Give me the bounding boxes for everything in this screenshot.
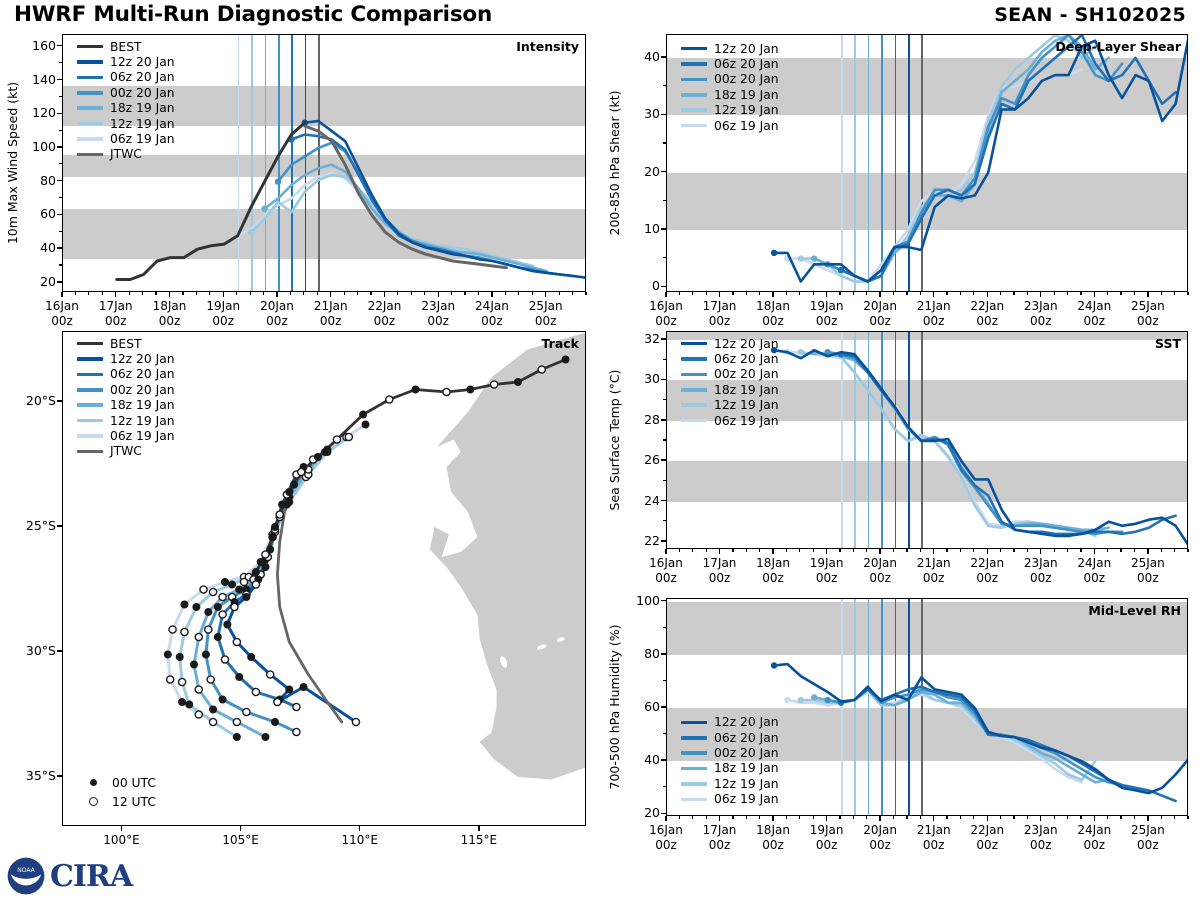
series-init-marker [798, 697, 804, 703]
x-minor-tick [129, 292, 130, 295]
x-minor-tick [102, 292, 103, 295]
track-point-12utc [233, 638, 240, 645]
track-point-00utc [247, 653, 255, 661]
legend-row: 12z 19 Jan [77, 116, 175, 131]
track-point-12utc [233, 718, 240, 725]
legend-label: 06z 20 Jan [714, 732, 779, 744]
plot-area-intensity: IntensityBEST12z 20 Jan06z 20 Jan00z 20 … [62, 34, 586, 292]
track-point-00utc [242, 593, 250, 601]
legend-row: 12z 19 Jan [681, 103, 779, 118]
y-minor-tick [663, 142, 666, 143]
x-minor-tick [155, 292, 156, 295]
legend-row: 18z 19 Jan [77, 101, 175, 116]
x-minor-tick [88, 292, 89, 295]
track-point-00utc [314, 453, 322, 461]
series-line [251, 175, 533, 266]
series-line [265, 165, 547, 271]
y-tick-label: 0 [626, 278, 660, 293]
legend-swatch [681, 47, 707, 51]
legend-label: 00 UTC [112, 776, 156, 790]
track-point-12utc [276, 511, 283, 518]
legend-label: 06z 20 Jan [714, 353, 779, 365]
lat-tick-mark [57, 775, 62, 776]
legend-row: 12z 19 Jan [681, 776, 779, 791]
legend-label: 06z 20 Jan [110, 71, 175, 83]
x-minor-tick [1187, 816, 1188, 819]
y-tick-mark [661, 419, 666, 420]
y-axis-label-shear: 200-850 hPa Shear (kt) [607, 91, 622, 236]
x-minor-tick [1174, 292, 1175, 295]
legend-swatch [681, 373, 707, 377]
y-tick-label: 10 [626, 221, 660, 236]
x-tick-label-hour: 00z [1114, 838, 1182, 853]
x-minor-tick [893, 292, 894, 295]
track-point-12utc [298, 468, 305, 475]
x-minor-tick [1013, 816, 1014, 819]
track-point-00utc [285, 686, 293, 694]
track-point-00utc [261, 733, 269, 741]
lat-tick-label: 25°S [14, 518, 56, 533]
legend-utc-markers: 00 UTC12 UTC [83, 773, 156, 811]
x-minor-tick [290, 292, 291, 295]
y-minor-tick [663, 786, 666, 787]
y-tick-label: 28 [626, 412, 660, 427]
series-line [788, 692, 1082, 782]
track-point-12utc [209, 718, 216, 725]
legend-swatch [77, 419, 103, 423]
legend-row: JTWC [77, 147, 175, 162]
y-tick-mark [661, 114, 666, 115]
y-tick-mark [661, 813, 666, 814]
series-init-marker [798, 349, 804, 355]
legend-swatch [77, 60, 103, 64]
track-point-12utc [243, 708, 250, 715]
legend-swatch [681, 108, 707, 112]
filled-circle-icon [83, 779, 103, 786]
x-minor-tick [799, 549, 800, 552]
x-tick-mark [223, 292, 224, 297]
legend-row: 00z 20 Jan [681, 367, 779, 382]
legend-label: 18z 19 Jan [714, 89, 779, 101]
x-minor-tick [920, 549, 921, 552]
y-minor-tick [663, 627, 666, 628]
series-line [841, 35, 1176, 282]
legend-swatch [77, 403, 103, 407]
series-init-marker [798, 255, 804, 261]
y-tick-mark [661, 759, 666, 760]
track-point-12utc [293, 728, 300, 735]
track-point-12utc [209, 588, 216, 595]
panel-shear: Deep-Layer Shear12z 20 Jan06z 20 Jan00z … [600, 28, 1200, 318]
panel-title-rh: Mid-Level RH [1088, 603, 1181, 618]
legend-swatch [77, 153, 103, 157]
series-line [305, 121, 586, 278]
y-tick-label: 30 [626, 106, 660, 121]
legend-swatch [681, 403, 707, 407]
y-minor-tick [59, 163, 62, 164]
y-minor-tick [59, 130, 62, 131]
x-minor-tick [1120, 549, 1121, 552]
x-minor-tick [478, 292, 479, 295]
track-point-12utc [221, 656, 228, 663]
y-tick-mark [57, 113, 62, 114]
legend-swatch [681, 388, 707, 392]
legend-label: 06z 20 Jan [110, 368, 175, 380]
x-minor-tick [732, 292, 733, 295]
y-tick-label: 20 [22, 274, 56, 289]
track-point-12utc [491, 381, 498, 388]
panel-intensity: IntensityBEST12z 20 Jan06z 20 Jan00z 20 … [0, 28, 600, 318]
legend-row: 18z 19 Jan [681, 761, 779, 776]
series-line [814, 35, 1108, 282]
x-tick-mark [987, 292, 988, 297]
x-tick-group: 25Jan00z [1114, 823, 1182, 852]
legend-swatch [681, 782, 707, 786]
y-tick-mark [661, 171, 666, 172]
x-minor-tick [920, 292, 921, 295]
x-tick-mark [665, 816, 666, 821]
panel-track: TrackBEST12z 20 Jan06z 20 Jan00z 20 Jan1… [0, 325, 600, 865]
legend-swatch [77, 91, 103, 95]
legend-label: 12z 19 Jan [714, 399, 779, 411]
legend-swatch [77, 450, 103, 454]
legend-row: BEST [77, 336, 175, 351]
x-minor-tick [973, 292, 974, 295]
x-minor-tick [1080, 292, 1081, 295]
legend-row: 06z 19 Jan [77, 131, 175, 146]
y-tick-mark [57, 281, 62, 282]
legend-label: 18z 19 Jan [110, 102, 175, 114]
track-point-00utc [228, 581, 236, 589]
x-minor-tick [209, 292, 210, 295]
legend-row: 00z 20 Jan [681, 72, 779, 87]
y-tick-mark [57, 146, 62, 147]
x-tick-mark [879, 292, 880, 297]
open-circle-icon [83, 797, 103, 806]
x-minor-tick [182, 292, 183, 295]
series-init-marker [771, 250, 777, 256]
y-tick-mark [661, 286, 666, 287]
legend-swatch [681, 419, 707, 423]
legend-swatch [77, 76, 103, 80]
y-tick-label: 100 [22, 139, 56, 154]
x-minor-tick [786, 292, 787, 295]
legend-swatch [77, 342, 103, 346]
legend-sst: 12z 20 Jan06z 20 Jan00z 20 Jan18z 19 Jan… [681, 336, 779, 428]
x-minor-tick [853, 292, 854, 295]
x-minor-tick [759, 816, 760, 819]
y-minor-tick [59, 264, 62, 265]
legend-label: 12z 19 Jan [714, 104, 779, 116]
x-minor-tick [1187, 549, 1188, 552]
x-minor-tick [518, 292, 519, 295]
y-minor-tick [663, 399, 666, 400]
legend-swatch [681, 798, 707, 802]
plot-area-shear: Deep-Layer Shear12z 20 Jan06z 20 Jan00z … [666, 34, 1188, 292]
y-tick-mark [661, 459, 666, 460]
x-minor-tick [1013, 549, 1014, 552]
x-minor-tick [786, 549, 787, 552]
track-point-00utc [323, 446, 331, 454]
track-point-00utc [290, 481, 298, 489]
track-point-00utc [214, 633, 222, 641]
x-minor-tick [370, 292, 371, 295]
x-minor-tick [706, 549, 707, 552]
legend-swatch [77, 137, 103, 141]
track-point-12utc [195, 633, 202, 640]
lon-tick-mark [121, 826, 122, 831]
legend-label: 06z 19 Jan [714, 415, 779, 427]
x-minor-tick [759, 292, 760, 295]
x-minor-tick [1027, 816, 1028, 819]
x-tick-group: 25Jan00z [512, 299, 580, 328]
y-tick-label: 60 [626, 699, 660, 714]
legend-swatch [77, 357, 103, 361]
track-point-12utc [240, 578, 247, 585]
panel-title-track: Track [542, 336, 579, 351]
track-point-00utc [221, 578, 229, 586]
y-tick-mark [57, 180, 62, 181]
x-tick-mark [879, 549, 880, 554]
legend-row: 06z 19 Jan [77, 428, 175, 443]
legend-row: 12z 19 Jan [77, 413, 175, 428]
y-minor-tick [663, 480, 666, 481]
legend-label: 12z 19 Jan [714, 778, 779, 790]
track-point-00utc [190, 661, 198, 669]
series-line [801, 35, 1096, 282]
x-tick-label-day: 25Jan [1114, 299, 1182, 314]
x-minor-tick [839, 816, 840, 819]
x-minor-tick [839, 292, 840, 295]
track-point-12utc [345, 433, 352, 440]
legend-label: JTWC [110, 445, 142, 457]
x-tick-mark [665, 292, 666, 297]
x-minor-tick [263, 292, 264, 295]
legend-row: 06z 20 Jan [77, 367, 175, 382]
x-minor-tick [357, 292, 358, 295]
x-tick-mark [933, 816, 934, 821]
legend-label: 12z 20 Jan [110, 56, 175, 68]
x-minor-tick [1000, 816, 1001, 819]
x-minor-tick [1174, 549, 1175, 552]
legend-swatch [681, 721, 707, 725]
y-minor-tick [663, 200, 666, 201]
legend-label: 12z 20 Jan [110, 353, 175, 365]
y-tick-mark [57, 247, 62, 248]
legend-swatch [681, 736, 707, 740]
track-point-00utc [285, 488, 293, 496]
track-point-12utc [195, 686, 202, 693]
track-point-12utc [219, 611, 226, 618]
legend-row: 06z 20 Jan [681, 730, 779, 745]
legend-label: 00z 20 Jan [714, 73, 779, 85]
y-tick-mark [661, 706, 666, 707]
legend-row: 12z 20 Jan [681, 715, 779, 730]
x-minor-tick [585, 292, 586, 295]
track-point-00utc [359, 411, 367, 419]
x-minor-tick [960, 816, 961, 819]
lon-tick-mark [478, 826, 479, 831]
x-minor-tick [920, 816, 921, 819]
x-tick-mark [276, 292, 277, 297]
track-point-00utc [271, 523, 279, 531]
lat-tick-mark [57, 650, 62, 651]
legend-label: 12z 20 Jan [714, 338, 779, 350]
legend-row: 18z 19 Jan [681, 382, 779, 397]
panel-title-intensity: Intensity [516, 39, 579, 54]
lon-tick-label: 110°E [326, 833, 394, 848]
legend-label: 18z 19 Jan [714, 762, 779, 774]
y-minor-tick [59, 62, 62, 63]
track-point-00utc [223, 621, 231, 629]
legend-swatch [681, 357, 707, 361]
track-point-00utc [269, 533, 277, 541]
track-point-12utc [333, 436, 340, 443]
x-minor-tick [893, 816, 894, 819]
x-tick-mark [933, 292, 934, 297]
legend-row: 18z 19 Jan [77, 398, 175, 413]
x-minor-tick [759, 549, 760, 552]
x-minor-tick [906, 816, 907, 819]
legend-label: 06z 19 Jan [110, 430, 175, 442]
lat-tick-label: 20°S [14, 393, 56, 408]
track-point-00utc [178, 698, 186, 706]
legend-intensity: BEST12z 20 Jan06z 20 Jan00z 20 Jan18z 19… [77, 39, 175, 162]
series-init-marker [275, 179, 281, 185]
track-point-12utc [274, 698, 281, 705]
legend-swatch [77, 106, 103, 110]
x-tick-mark [879, 816, 880, 821]
legend-label: 18z 19 Jan [714, 384, 779, 396]
noaa-logo-icon: NOAA [6, 856, 46, 896]
x-minor-tick [692, 549, 693, 552]
legend-swatch [77, 122, 103, 126]
track-point-12utc [207, 676, 214, 683]
logo-group: NOAA CIRA [6, 855, 132, 897]
y-axis-label-rh: 700-500 hPa Humidity (%) [607, 624, 622, 789]
y-tick-mark [57, 45, 62, 46]
legend-label: 00z 20 Jan [110, 87, 175, 99]
y-tick-mark [661, 379, 666, 380]
y-tick-mark [661, 56, 666, 57]
x-tick-mark [826, 549, 827, 554]
track-point-12utc [293, 703, 300, 710]
x-tick-mark [1040, 549, 1041, 554]
x-minor-tick [960, 549, 961, 552]
track-point-12utc [195, 711, 202, 718]
track-point-00utc [252, 568, 260, 576]
track-point-00utc [176, 653, 184, 661]
x-minor-tick [799, 816, 800, 819]
x-minor-tick [1120, 292, 1121, 295]
legend-row: 00z 20 Jan [681, 745, 779, 760]
legend-row: 00z 20 Jan [77, 382, 175, 397]
track-point-12utc [386, 396, 393, 403]
y-tick-label: 80 [22, 173, 56, 188]
legend-row: BEST [77, 39, 175, 54]
y-tick-mark [661, 228, 666, 229]
track-point-00utc [466, 386, 474, 394]
legend-rh: 12z 20 Jan06z 20 Jan00z 20 Jan18z 19 Jan… [681, 715, 779, 807]
x-tick-label-hour: 00z [1114, 571, 1182, 586]
x-minor-tick [973, 549, 974, 552]
x-minor-tick [1000, 292, 1001, 295]
legend-swatch [681, 767, 707, 771]
legend-swatch [77, 45, 103, 49]
y-minor-tick [663, 359, 666, 360]
y-axis-label-intensity: 10m Max Wind Speed (kt) [5, 82, 20, 244]
y-tick-mark [661, 600, 666, 601]
x-minor-tick [1027, 549, 1028, 552]
x-minor-tick [813, 816, 814, 819]
y-tick-mark [661, 653, 666, 654]
x-minor-tick [1134, 292, 1135, 295]
track-point-00utc [412, 386, 420, 394]
track-point-00utc [562, 356, 570, 364]
y-minor-tick [663, 680, 666, 681]
x-tick-mark [1040, 292, 1041, 297]
x-tick-mark [665, 549, 666, 554]
legend-label: 00z 20 Jan [714, 368, 779, 380]
lon-tick-label: 115°E [445, 833, 513, 848]
legend-label: 06z 19 Jan [714, 793, 779, 805]
x-minor-tick [906, 292, 907, 295]
x-minor-tick [1080, 816, 1081, 819]
x-tick-mark [330, 292, 331, 297]
x-minor-tick [786, 816, 787, 819]
x-minor-tick [692, 292, 693, 295]
x-tick-mark [719, 816, 720, 821]
x-tick-mark [1094, 549, 1095, 554]
series-init-marker [784, 697, 790, 703]
plot-area-sst: SST12z 20 Jan06z 20 Jan00z 20 Jan18z 19 … [666, 331, 1188, 549]
x-minor-tick [1067, 549, 1068, 552]
page-title: HWRF Multi-Run Diagnostic Comparison [14, 2, 492, 27]
x-minor-tick [505, 292, 506, 295]
legend-row: 12z 20 Jan [681, 41, 779, 56]
legend-swatch [681, 751, 707, 755]
y-tick-label: 30 [626, 371, 660, 386]
x-minor-tick [1107, 549, 1108, 552]
x-minor-tick [1120, 816, 1121, 819]
x-minor-tick [1107, 816, 1108, 819]
legend-row: 12z 19 Jan [681, 398, 779, 413]
x-minor-tick [1161, 816, 1162, 819]
track-point-12utc [252, 581, 259, 588]
track-point-12utc [538, 366, 545, 373]
legend-row: 06z 20 Jan [77, 70, 175, 85]
track-point-12utc [443, 388, 450, 395]
x-tick-label-day: 25Jan [512, 299, 580, 314]
x-minor-tick [692, 816, 693, 819]
y-minor-tick [663, 733, 666, 734]
y-tick-label: 40 [626, 49, 660, 64]
x-minor-tick [1161, 292, 1162, 295]
x-minor-tick [839, 549, 840, 552]
lat-tick-label: 35°S [14, 768, 56, 783]
x-tick-mark [826, 816, 827, 821]
track-point-00utc [219, 696, 227, 704]
x-minor-tick [679, 549, 680, 552]
track-point-12utc [169, 626, 176, 633]
legend-swatch [77, 373, 103, 377]
x-minor-tick [679, 292, 680, 295]
x-minor-tick [973, 816, 974, 819]
y-tick-mark [57, 79, 62, 80]
x-minor-tick [946, 816, 947, 819]
x-minor-tick [853, 549, 854, 552]
track-point-12utc [262, 551, 269, 558]
